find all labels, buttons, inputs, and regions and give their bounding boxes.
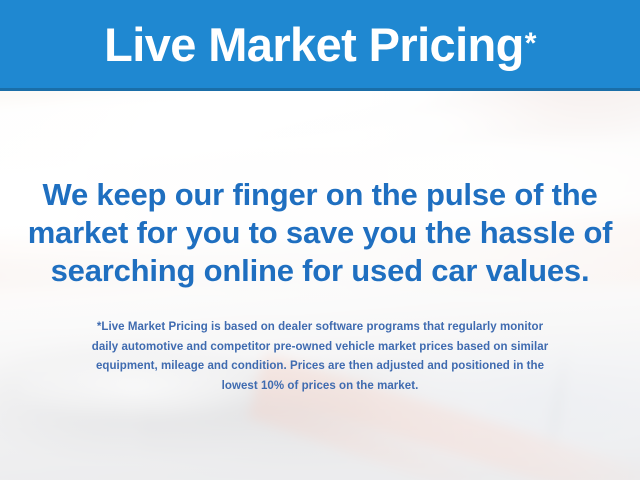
- page-title-text: Live Market Pricing: [104, 21, 524, 68]
- page-title: Live Market Pricing*: [0, 0, 640, 88]
- header-banner-bottom-edge: [0, 88, 640, 91]
- disclaimer-line-4: lowest 10% of prices on the market.: [30, 377, 610, 397]
- page-title-asterisk: *: [525, 29, 536, 59]
- headline-line-3: searching online for used car values.: [22, 252, 618, 290]
- disclaimer-line-2: daily automotive and competitor pre-owne…: [30, 338, 610, 358]
- headline: We keep our finger on the pulse of the m…: [22, 176, 618, 290]
- disclaimer-line-3: equipment, mileage and condition. Prices…: [30, 357, 610, 377]
- headline-line-2: market for you to save you the hassle of: [22, 214, 618, 252]
- disclaimer-line-1: *Live Market Pricing is based on dealer …: [30, 318, 610, 338]
- disclaimer: *Live Market Pricing is based on dealer …: [30, 318, 610, 396]
- headline-line-1: We keep our finger on the pulse of the: [22, 176, 618, 214]
- live-market-pricing-slide: Live Market Pricing* We keep our finger …: [0, 0, 640, 480]
